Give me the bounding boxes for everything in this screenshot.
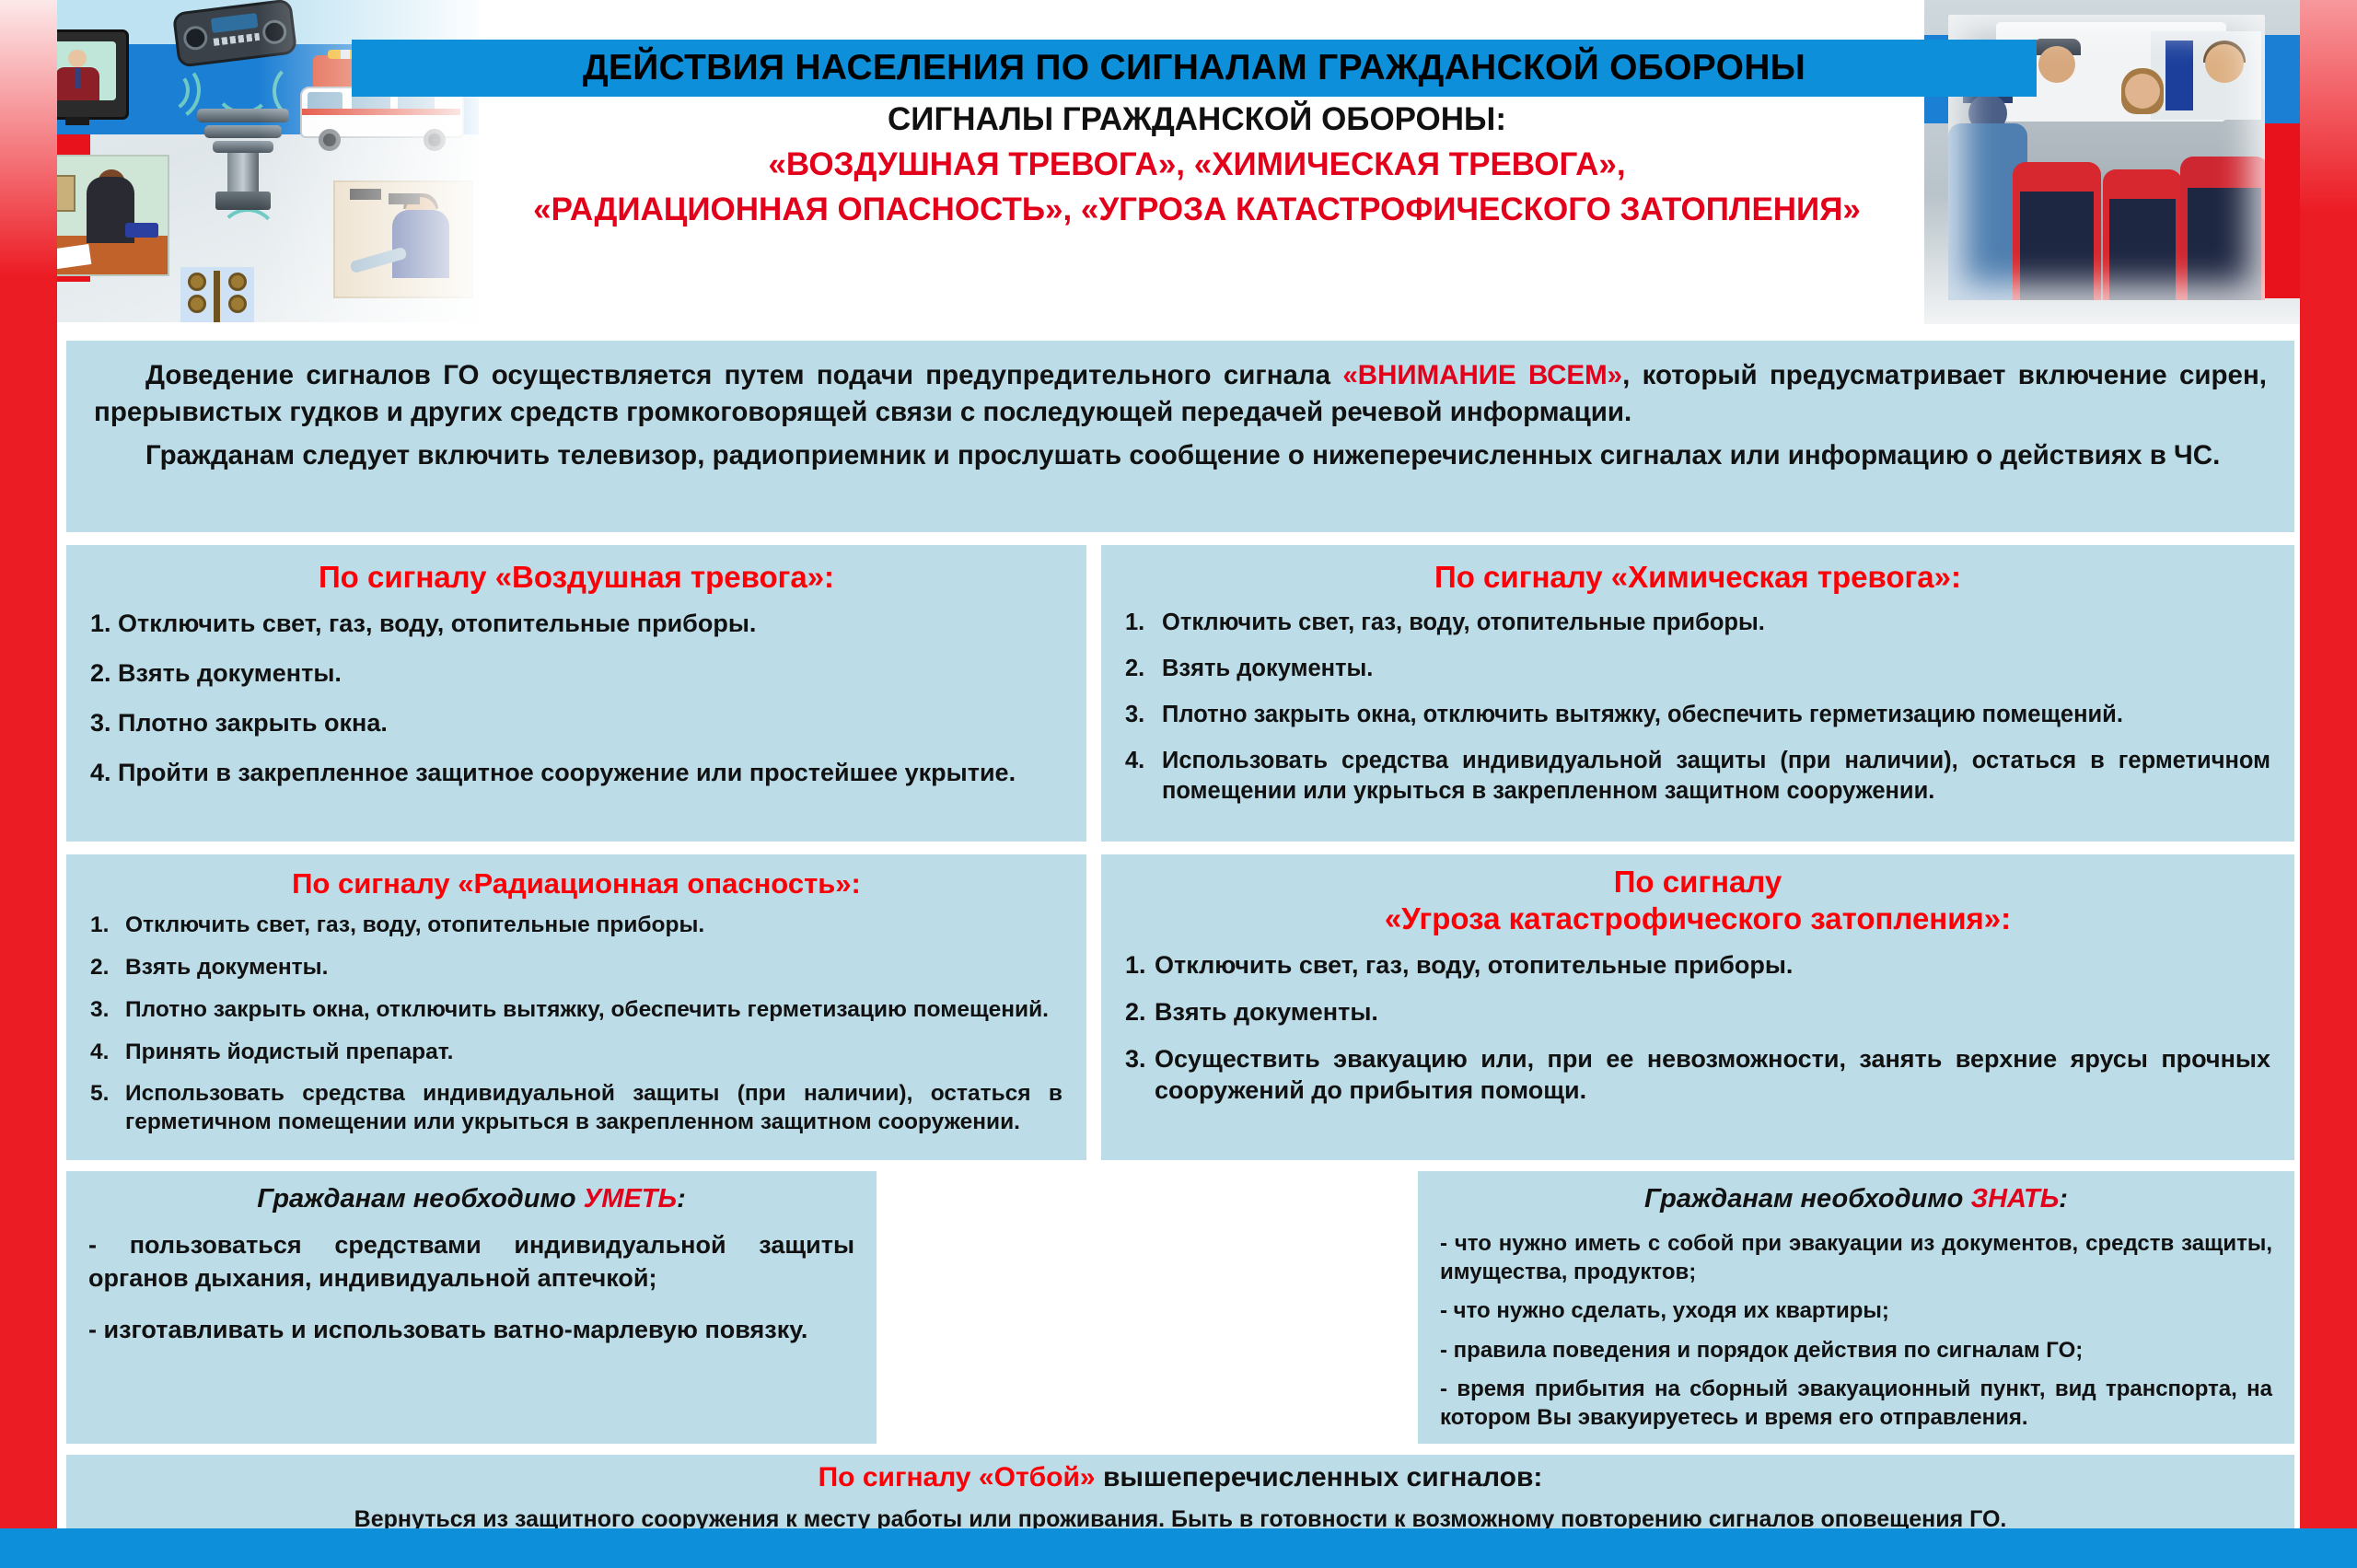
- list-item: 1.Отключить свет, газ, воду, отопительны…: [1125, 608, 2270, 637]
- step-number: 3.: [1125, 1043, 1155, 1106]
- antenna-dish: [228, 295, 247, 313]
- radio-display: [211, 13, 259, 33]
- telephone-set: [125, 223, 158, 238]
- right-red-border: [2300, 0, 2357, 1528]
- subtitle-line-1: СИГНАЛЫ ГРАЖДАНСКОЙ ОБОРОНЫ:: [387, 101, 2007, 138]
- step-text: Взять документы.: [125, 954, 1062, 982]
- otboj-title-rest: вышеперечисленных сигналов:: [1096, 1462, 1543, 1493]
- step-text: Использовать средства индивидуальной защ…: [125, 1080, 1062, 1137]
- list-item: 5.Использовать средства индивидуальной з…: [90, 1080, 1062, 1137]
- subtitle-line-2: «ВОЗДУШНАЯ ТРЕВОГА», «ХИМИЧЕСКАЯ ТРЕВОГА…: [387, 146, 2007, 183]
- list-item: - правила поведения и порядок действия п…: [1440, 1336, 2272, 1365]
- left-border-fade: [0, 0, 57, 276]
- list-item: 4.Использовать средства индивидуальной з…: [1125, 746, 2270, 805]
- step-number: 1.: [90, 608, 118, 639]
- tv-stand: [65, 117, 88, 125]
- step-number: 5.: [90, 1080, 125, 1137]
- list-item: 2.Взять документы.: [1125, 996, 2270, 1028]
- intro-paragraph-2: Гражданам следует включить телевизор, ра…: [94, 437, 2267, 474]
- umet-title-keyword: УМЕТЬ: [584, 1184, 677, 1214]
- signal-title-line-1: По сигналу: [1125, 864, 2270, 900]
- list-item: - пользоваться средствами индивидуальной…: [88, 1229, 854, 1295]
- step-number: 1.: [1125, 949, 1155, 981]
- footer-blue-strip: [0, 1528, 2357, 1568]
- znat-title-before: Гражданам необходимо: [1644, 1184, 1970, 1214]
- step-text: Использовать средства индивидуальной защ…: [1162, 746, 2270, 805]
- step-text: Отключить свет, газ, воду, отопительные …: [118, 608, 1062, 639]
- page-title: ДЕЙСТВИЯ НАСЕЛЕНИЯ ПО СИГНАЛАМ ГРАЖДАНСК…: [583, 48, 1805, 88]
- step-number: 4.: [90, 757, 118, 788]
- umet-title-after: :: [677, 1184, 686, 1214]
- umet-list: - пользоваться средствами индивидуальной…: [88, 1229, 854, 1347]
- list-item: 3.Плотно закрыть окна, отключить вытяжку…: [1125, 700, 2270, 729]
- step-text: Отключить свет, газ, воду, отопительные …: [125, 912, 1062, 940]
- announcer-tie: [75, 68, 81, 88]
- step-number: 3.: [90, 996, 125, 1025]
- siren-column: [227, 153, 259, 192]
- signal-title-radiation-danger: По сигналу «Радиационная опасность»:: [90, 867, 1062, 900]
- steps-list-chemical-alarm: 1.Отключить свет, газ, воду, отопительны…: [1125, 608, 2270, 806]
- steps-list-flood-threat: 1.Отключить свет, газ, воду, отопительны…: [1125, 949, 2270, 1106]
- list-item: 2.Взять документы.: [90, 954, 1062, 982]
- step-number: 1.: [1125, 608, 1162, 637]
- step-text: Взять документы.: [118, 657, 1062, 689]
- attention-all-signal-label: «ВНИМАНИЕ ВСЕМ»: [1342, 360, 1622, 390]
- intro-panel: Доведение сигналов ГО осуществляется пут…: [66, 341, 2294, 532]
- citizens-must-know-panel: Гражданам необходимо ЗНАТЬ: - что нужно …: [1418, 1171, 2294, 1444]
- znat-title-keyword: ЗНАТЬ: [1970, 1184, 2059, 1214]
- step-number: 1.: [90, 912, 125, 940]
- signal-panel-flood-threat: По сигналу «Угроза катастрофического зат…: [1101, 854, 2294, 1160]
- right-border-fade: [2300, 0, 2357, 212]
- list-item: 3.Плотно закрыть окна, отключить вытяжку…: [90, 996, 1062, 1025]
- citizens-must-be-able-panel: Гражданам необходимо УМЕТЬ: - пользовать…: [66, 1171, 877, 1444]
- step-text: Осуществить эвакуацию или, при ее невозм…: [1155, 1043, 2270, 1106]
- list-item: 2.Взять документы.: [90, 657, 1062, 689]
- announcer-head: [68, 50, 87, 67]
- list-item: - изготавливать и использовать ватно-мар…: [88, 1314, 854, 1347]
- antenna-dish: [228, 273, 247, 291]
- list-item: 3.Плотно закрыть окна.: [90, 707, 1062, 738]
- step-text: Плотно закрыть окна, отключить вытяжку, …: [125, 996, 1062, 1025]
- list-item: 4.Принять йодистый препарат.: [90, 1039, 1062, 1067]
- znat-list: - что нужно иметь с собой при эвакуации …: [1440, 1229, 2272, 1432]
- step-text: Плотно закрыть окна, отключить вытяжку, …: [1162, 700, 2270, 729]
- step-text: Взять документы.: [1162, 654, 2270, 683]
- steps-list-radiation-danger: 1.Отключить свет, газ, воду, отопительны…: [90, 912, 1062, 1137]
- list-item: 3.Осуществить эвакуацию или, при ее нево…: [1125, 1043, 2270, 1106]
- radio-speaker: [182, 25, 209, 52]
- radio-buttons: [214, 33, 261, 46]
- all-clear-panel: По сигналу «Отбой» вышеперечисленных сиг…: [66, 1455, 2294, 1528]
- intro-paragraph-1: Доведение сигналов ГО осуществляется пут…: [94, 357, 2267, 430]
- step-number: 4.: [90, 1039, 125, 1067]
- step-number: 4.: [1125, 746, 1162, 805]
- step-text: Отключить свет, газ, воду, отопительные …: [1162, 608, 2270, 637]
- signal-title-flood-threat: По сигналу «Угроза катастрофического зат…: [1125, 864, 2270, 938]
- poster-title-bar: ДЕЙСТВИЯ НАСЕЛЕНИЯ ПО СИГНАЛАМ ГРАЖДАНСК…: [352, 40, 2037, 97]
- znat-title-after: :: [2059, 1184, 2068, 1214]
- signal-panel-radiation-danger: По сигналу «Радиационная опасность»: 1.О…: [66, 854, 1086, 1160]
- step-number: 3.: [90, 707, 118, 738]
- step-number: 2.: [90, 954, 125, 982]
- step-text: Отключить свет, газ, воду, отопительные …: [1155, 949, 2270, 981]
- umet-title: Гражданам необходимо УМЕТЬ:: [88, 1184, 854, 1214]
- step-text: Взять документы.: [1155, 996, 2270, 1028]
- list-item: 4.Пройти в закрепленное защитное сооруже…: [90, 757, 1062, 788]
- intro-p1-before: Доведение сигналов ГО осуществляется пут…: [145, 360, 1342, 390]
- otboj-title: По сигналу «Отбой» вышеперечисленных сиг…: [88, 1462, 2272, 1493]
- signal-title-line-2: «Угроза катастрофического затопления»:: [1125, 900, 2270, 937]
- otboj-title-keyword: По сигналу «Отбой»: [819, 1462, 1096, 1493]
- step-text: Плотно закрыть окна.: [118, 707, 1062, 738]
- list-item: 2.Взять документы.: [1125, 654, 2270, 683]
- step-number: 2.: [1125, 996, 1155, 1028]
- step-text: Принять йодистый препарат.: [125, 1039, 1062, 1067]
- subtitle-line-3: «РАДИАЦИОННАЯ ОПАСНОСТЬ», «УГРОЗА КАТАСТ…: [387, 192, 2007, 228]
- signal-title-chemical-alarm: По сигналу «Химическая тревога»:: [1125, 560, 2270, 595]
- step-text: Пройти в закрепленное защитное сооружени…: [118, 757, 1062, 788]
- list-item: - что нужно иметь с собой при эвакуации …: [1440, 1229, 2272, 1286]
- step-number: 2.: [90, 657, 118, 689]
- antenna-dish: [188, 295, 206, 313]
- signal-panel-chemical-alarm: По сигналу «Химическая тревога»: 1.Отклю…: [1101, 545, 2294, 842]
- antenna-dish: [188, 273, 206, 291]
- antenna-tower-icon: [180, 267, 254, 322]
- step-number: 3.: [1125, 700, 1162, 729]
- steps-list-air-alarm: 1.Отключить свет, газ, воду, отопительны…: [90, 608, 1062, 788]
- step-number: 2.: [1125, 654, 1162, 683]
- list-item: - время прибытия на сборный эвакуационны…: [1440, 1375, 2272, 1432]
- list-item: - что нужно сделать, уходя их квартиры;: [1440, 1296, 2272, 1325]
- header: ДЕЙСТВИЯ НАСЕЛЕНИЯ ПО СИГНАЛАМ ГРАЖДАНСК…: [0, 0, 2357, 327]
- poster: ДЕЙСТВИЯ НАСЕЛЕНИЯ ПО СИГНАЛАМ ГРАЖДАНСК…: [0, 0, 2357, 1568]
- list-item: 1.Отключить свет, газ, воду, отопительны…: [1125, 949, 2270, 981]
- signal-title-air-alarm: По сигналу «Воздушная тревога»:: [90, 560, 1062, 595]
- umet-title-before: Гражданам необходимо: [257, 1184, 583, 1214]
- list-item: 1.Отключить свет, газ, воду, отопительны…: [90, 912, 1062, 940]
- antenna-mast: [214, 271, 220, 322]
- signal-panel-air-alarm: По сигналу «Воздушная тревога»: 1.Отключ…: [66, 545, 1086, 842]
- znat-title: Гражданам необходимо ЗНАТЬ:: [1440, 1184, 2272, 1214]
- list-item: 1.Отключить свет, газ, воду, отопительны…: [90, 608, 1062, 639]
- subtitle-block: СИГНАЛЫ ГРАЖДАНСКОЙ ОБОРОНЫ: «ВОЗДУШНАЯ …: [387, 101, 2007, 228]
